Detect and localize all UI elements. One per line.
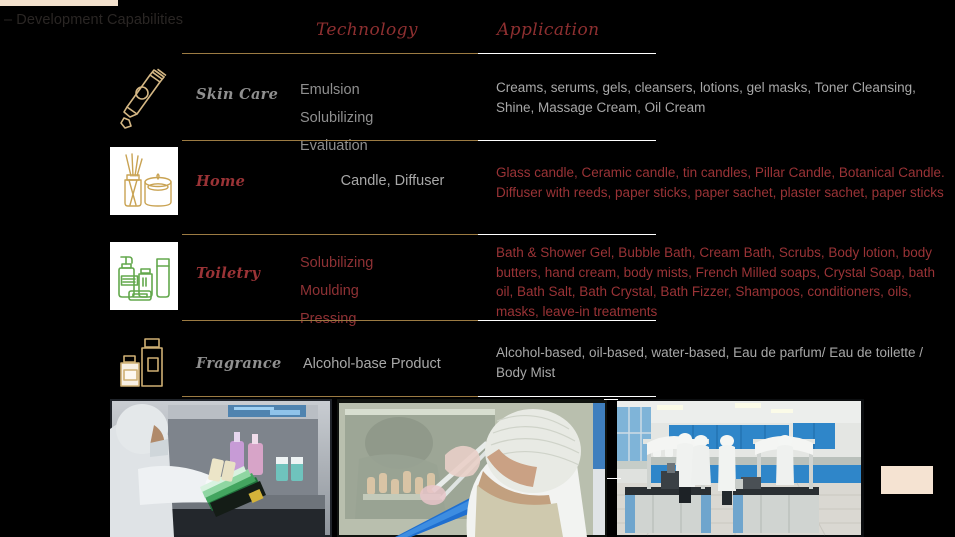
technology-cell-skin-care: Emulsion Solubilizing Evaluation	[300, 76, 485, 160]
technology-cell-home: Candle, Diffuser	[300, 167, 485, 195]
photo-lab-technician-color-swatches	[110, 399, 332, 537]
diffuser-candle-icon	[110, 147, 178, 215]
application-cell-home: Glass candle, Ceramic candle, tin candle…	[496, 163, 946, 202]
perfume-bottles-icon	[110, 330, 178, 398]
application-cell-toiletry: Bath & Shower Gel, Bubble Bath, Cream Ba…	[496, 243, 946, 321]
column-header-technology: Technology	[316, 20, 418, 40]
row-label-home: Home	[196, 173, 245, 190]
cream-tube-icon	[110, 62, 178, 130]
toiletry-bottles-icon	[110, 242, 178, 310]
technology-cell-fragrance: Alcohol-base Product	[303, 350, 493, 378]
application-cell-skin-care: Creams, serums, gels, cleansers, lotions…	[496, 78, 946, 117]
table-rule-3	[182, 320, 656, 321]
table-rule-2	[182, 234, 656, 235]
photo-strip-divider	[607, 478, 621, 479]
page-title: – Development Capabilities	[4, 12, 183, 28]
photo-laboratory-room-workers	[617, 399, 864, 537]
column-header-application: Application	[497, 20, 599, 40]
row-label-toiletry: Toiletry	[196, 265, 260, 282]
photo-strip-divider-top	[604, 399, 618, 400]
photo-lab-technician-fume-hood	[337, 399, 607, 537]
header-accent-bar	[0, 0, 118, 6]
color-swatch	[881, 466, 933, 494]
table-rule-4	[182, 396, 656, 397]
row-label-fragrance: Fragrance	[196, 355, 282, 372]
application-cell-fragrance: Alcohol-based, oil-based, water-based, E…	[496, 343, 946, 382]
row-label-skin-care: Skin Care	[196, 86, 278, 103]
table-rule-1	[182, 140, 656, 141]
table-rule-header	[182, 53, 656, 54]
